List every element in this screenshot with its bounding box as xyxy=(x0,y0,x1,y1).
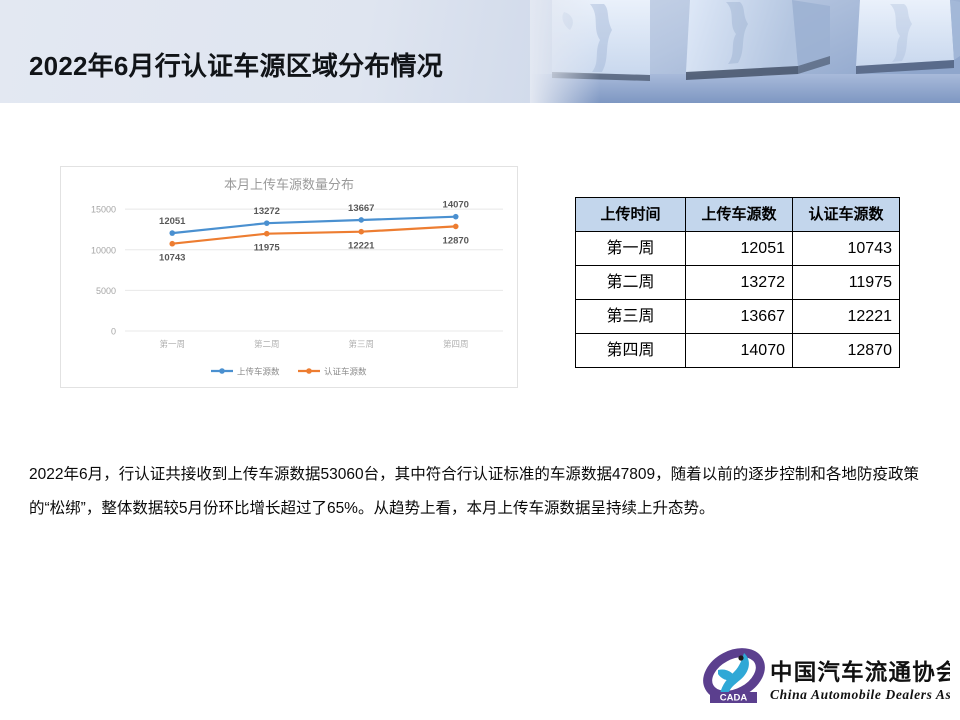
cada-emblem: CADA xyxy=(700,648,767,704)
y-axis-tick-label: 10000 xyxy=(91,245,116,255)
cell-certified-count: 12870 xyxy=(793,334,900,368)
series-line-0 xyxy=(172,217,456,233)
cell-upload-time: 第一周 xyxy=(576,232,686,266)
data-label: 11975 xyxy=(254,243,281,254)
table-row: 第二周1327211975 xyxy=(576,266,900,300)
page-title: 2022年6月行认证车源区域分布情况 xyxy=(29,46,443,83)
org-name-cn: 中国汽车流通协会 xyxy=(770,659,950,686)
legend-marker xyxy=(306,368,312,374)
data-label: 10743 xyxy=(159,253,185,264)
legend-label: 上传车源数 xyxy=(237,367,280,378)
data-label: 12051 xyxy=(159,216,186,227)
table-header-certified-count: 认证车源数 xyxy=(793,198,900,232)
cell-certified-count: 12221 xyxy=(793,300,900,334)
table-header-row: 上传时间 上传车源数 认证车源数 xyxy=(576,198,900,232)
cell-upload-time: 第三周 xyxy=(576,300,686,334)
y-axis-tick-label: 0 xyxy=(111,327,116,337)
data-point xyxy=(453,214,459,220)
cell-uploaded-count: 13667 xyxy=(686,300,793,334)
x-axis-tick-label: 第一周 xyxy=(159,339,185,350)
data-point xyxy=(169,230,175,236)
upload-data-table: 上传时间 上传车源数 认证车源数 第一周1205110743第二周1327211… xyxy=(575,197,900,368)
x-axis-tick-label: 第三周 xyxy=(348,339,374,350)
cada-logo: CADA 中国汽车流通协会 China Automobile Dealers A… xyxy=(700,648,950,710)
slide: 2022年6月行认证车源区域分布情况 本月上传车源数量分布 0500010000… xyxy=(0,0,960,720)
header-banner: 2022年6月行认证车源区域分布情况 xyxy=(0,0,960,103)
blue-cubes-world-map-image xyxy=(530,0,960,103)
data-label: 13272 xyxy=(254,206,280,217)
x-axis-tick-label: 第二周 xyxy=(254,339,280,350)
line-chart: 050001000015000第一周第二周第三周第四周1205113272136… xyxy=(61,167,519,389)
y-axis-tick-label: 15000 xyxy=(91,205,116,215)
data-point xyxy=(264,220,270,226)
cell-certified-count: 10743 xyxy=(793,232,900,266)
cell-uploaded-count: 12051 xyxy=(686,232,793,266)
table-header-upload-time: 上传时间 xyxy=(576,198,686,232)
summary-paragraph: 2022年6月，行认证共接收到上传车源数据53060台，其中符合行认证标准的车源… xyxy=(29,458,919,526)
org-name-en: China Automobile Dealers Association xyxy=(770,687,950,702)
cell-certified-count: 11975 xyxy=(793,266,900,300)
cell-upload-time: 第四周 xyxy=(576,334,686,368)
data-point xyxy=(453,224,459,230)
data-label: 12221 xyxy=(348,241,375,252)
y-axis-tick-label: 5000 xyxy=(96,286,116,296)
x-axis-tick-label: 第四周 xyxy=(443,339,469,350)
cell-upload-time: 第二周 xyxy=(576,266,686,300)
legend-label: 认证车源数 xyxy=(324,367,367,378)
data-point xyxy=(358,217,364,223)
data-point xyxy=(358,229,364,235)
table-row: 第一周1205110743 xyxy=(576,232,900,266)
data-point xyxy=(169,241,175,247)
table-header-uploaded-count: 上传车源数 xyxy=(686,198,793,232)
cell-uploaded-count: 13272 xyxy=(686,266,793,300)
data-label: 12870 xyxy=(443,235,469,246)
table-row: 第三周1366712221 xyxy=(576,300,900,334)
legend-marker xyxy=(219,368,225,374)
table-row: 第四周1407012870 xyxy=(576,334,900,368)
data-point xyxy=(264,231,270,237)
cell-uploaded-count: 14070 xyxy=(686,334,793,368)
logo-mark-text: CADA xyxy=(720,693,748,704)
chart-card: 本月上传车源数量分布 050001000015000第一周第二周第三周第四周12… xyxy=(60,166,518,388)
data-label: 14070 xyxy=(443,200,469,211)
data-label: 13667 xyxy=(348,203,374,214)
